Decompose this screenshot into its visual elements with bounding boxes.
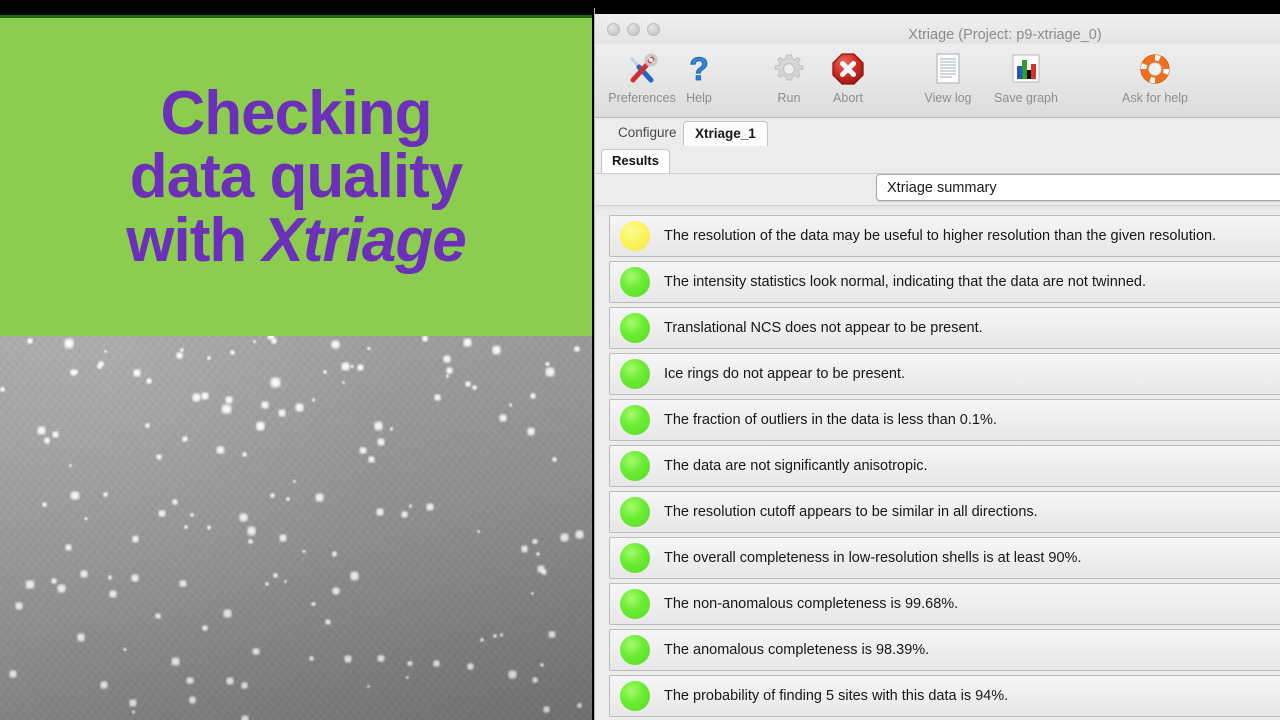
view-log-button[interactable]: View log (911, 48, 985, 116)
diffraction-spot (284, 580, 287, 583)
diffraction-spot (331, 340, 340, 349)
diffraction-spot (521, 545, 529, 553)
tools-icon (625, 48, 659, 90)
diffraction-spot (499, 414, 507, 422)
diffraction-spot (0, 387, 5, 392)
result-text: The intensity statistics look normal, in… (664, 274, 1146, 290)
diffraction-spot (575, 530, 585, 540)
diffraction-spot (560, 533, 569, 542)
diffraction-spot (406, 676, 410, 680)
result-row[interactable]: Ice rings do not appear to be present. (609, 353, 1280, 395)
diffraction-spot (97, 364, 102, 369)
diffraction-spot (323, 370, 327, 374)
diffraction-spot (532, 539, 538, 545)
result-row[interactable]: The overall completeness in low-resoluti… (609, 537, 1280, 579)
diffraction-spot (509, 403, 512, 406)
diffraction-spot (350, 365, 353, 368)
diffraction-spot (536, 552, 540, 556)
diffraction-spot (202, 625, 208, 631)
slide-title-line-3: with Xtriage (126, 209, 465, 272)
bar-chart-icon (1010, 48, 1042, 90)
results-list[interactable]: The resolution of the data may be useful… (595, 212, 1280, 720)
abort-label: Abort (833, 91, 863, 105)
diffraction-spot (548, 631, 555, 638)
diffraction-spot (493, 634, 496, 637)
diffraction-spot (325, 619, 331, 625)
tab-configure[interactable]: Configure (607, 121, 688, 146)
status-indicator-green (620, 267, 650, 297)
diffraction-spot (129, 699, 137, 707)
diffraction-spot (248, 539, 253, 544)
diffraction-spot (156, 454, 163, 461)
diffraction-spot (216, 446, 224, 454)
diffraction-spot (230, 350, 235, 355)
diffraction-spot (201, 392, 209, 400)
diffraction-spot (368, 456, 375, 463)
diffraction-spot (225, 396, 233, 404)
diffraction-spot (407, 661, 412, 666)
diffraction-spot (545, 367, 554, 376)
diffraction-spot (100, 681, 108, 689)
diffraction-spot (109, 590, 117, 598)
diffraction-spot (180, 348, 184, 352)
diffraction-spot (132, 710, 136, 714)
diffraction-spot (223, 609, 232, 618)
diffraction-spot (273, 573, 278, 578)
diffraction-spot (377, 438, 385, 446)
status-indicator-green (620, 497, 650, 527)
diffraction-spot (252, 648, 260, 656)
diffraction-spot (472, 385, 477, 390)
result-row[interactable]: The resolution of the data may be useful… (609, 215, 1280, 257)
save-graph-label: Save graph (994, 91, 1058, 105)
diffraction-spot (9, 670, 17, 678)
status-indicator-green (620, 681, 650, 711)
diffraction-spot (390, 427, 393, 430)
diffraction-spot (543, 706, 550, 713)
preferences-label: Preferences (608, 91, 675, 105)
result-row[interactable]: The anomalous completeness is 98.39%. (609, 629, 1280, 671)
result-text: The anomalous completeness is 98.39%. (664, 642, 929, 658)
question-mark-icon: ? (684, 48, 714, 90)
diffraction-spot (467, 663, 475, 671)
tab-results[interactable]: Results (601, 149, 670, 173)
diffraction-spot (367, 347, 370, 350)
diffraction-spot (207, 356, 211, 360)
diffraction-noise-texture (0, 336, 592, 720)
diffraction-spot (70, 491, 80, 501)
diffraction-spot (182, 436, 188, 442)
diffraction-spot (241, 715, 249, 720)
diffraction-spot (401, 511, 408, 518)
diffraction-spot (44, 437, 51, 444)
diffraction-spot (189, 696, 196, 703)
diffraction-spot (463, 338, 472, 347)
summary-dropdown-value: Xtriage summary (887, 175, 997, 202)
diffraction-spot (131, 574, 139, 582)
diffraction-spot (278, 409, 286, 417)
result-text: Translational NCS does not appear to be … (664, 320, 983, 336)
diffraction-spot (270, 493, 275, 498)
main-toolbar: Preferences ? Help (595, 44, 1280, 118)
summary-dropdown[interactable]: Xtriage summary (876, 174, 1280, 201)
diffraction-spot (480, 638, 484, 642)
diffraction-spot (15, 602, 23, 610)
stop-octagon-icon (831, 48, 865, 90)
help-button[interactable]: ? Help (669, 48, 729, 116)
save-graph-button[interactable]: Save graph (983, 48, 1069, 116)
diffraction-spot (123, 648, 127, 652)
result-row[interactable]: The probability of finding 5 sites with … (609, 675, 1280, 717)
status-indicator-green (620, 359, 650, 389)
status-indicator-green (620, 313, 650, 343)
diffraction-spot (155, 613, 161, 619)
diffraction-spot (309, 656, 314, 661)
diffraction-spot (541, 569, 547, 575)
diffraction-spot (172, 499, 178, 505)
x-ray-diffraction-image (0, 336, 592, 720)
diffraction-spot (315, 493, 324, 502)
diffraction-spot (350, 571, 359, 580)
toolbar-divider (595, 205, 1280, 212)
status-indicator-green (620, 451, 650, 481)
result-text: Ice rings do not appear to be present. (664, 366, 905, 382)
diffraction-spot (311, 602, 315, 606)
diffraction-spot (51, 578, 57, 584)
diffraction-spot (531, 592, 534, 595)
result-text: The non-anomalous completeness is 99.68%… (664, 596, 958, 612)
result-row[interactable]: The resolution cutoff appears to be simi… (609, 491, 1280, 533)
diffraction-spot (545, 362, 549, 366)
diffraction-spot (190, 513, 193, 516)
diffraction-spot (25, 580, 34, 589)
diffraction-spot (37, 426, 46, 435)
diffraction-spot (577, 703, 581, 707)
diffraction-spot (422, 336, 428, 342)
diffraction-spot (133, 369, 141, 377)
diffraction-spot (359, 447, 367, 455)
diffraction-spot (286, 497, 290, 501)
diffraction-spot (270, 377, 281, 388)
diffraction-spot (508, 670, 517, 679)
diffraction-spot (179, 580, 186, 587)
diffraction-spot (132, 535, 140, 543)
run-label: Run (778, 91, 801, 105)
diffraction-spot (527, 427, 536, 436)
result-row[interactable]: The data are not significantly anisotrop… (609, 445, 1280, 487)
diffraction-spot (293, 480, 296, 483)
diffraction-spot (103, 492, 108, 497)
diffraction-spot (207, 525, 212, 530)
diffraction-spot (145, 423, 150, 428)
document-icon (933, 48, 963, 90)
diffraction-spot (433, 660, 440, 667)
diffraction-spot (332, 551, 338, 557)
diffraction-spot (146, 378, 152, 384)
diffraction-spot (42, 502, 47, 507)
result-row[interactable]: Translational NCS does not appear to be … (609, 307, 1280, 349)
diffraction-spot (341, 362, 350, 371)
diffraction-spot (492, 345, 502, 355)
diffraction-spot (332, 587, 340, 595)
diffraction-spot (530, 393, 536, 399)
diffraction-spot (176, 352, 183, 359)
result-row[interactable]: The non-anomalous completeness is 99.68%… (609, 583, 1280, 625)
diffraction-spot (279, 534, 287, 542)
diffraction-spot (265, 582, 269, 586)
diffraction-spot (426, 503, 434, 511)
slide-title-line-3-plain: with (126, 206, 262, 275)
diffraction-spot (574, 346, 580, 352)
diffraction-spot (377, 655, 384, 662)
primary-tab-bar: Configure Xtriage_1 (595, 118, 1280, 146)
diffraction-spot (221, 404, 231, 414)
diffraction-spot (357, 364, 364, 371)
diffraction-spot (376, 508, 384, 516)
diffraction-spot (27, 338, 33, 344)
slide-title-line-2: data quality (130, 145, 463, 208)
diffraction-spot (409, 504, 412, 507)
xtriage-application-window: Xtriage (Project: p9-xtriage_0) (594, 8, 1280, 720)
diffraction-spot (70, 369, 77, 376)
diffraction-spot (57, 584, 66, 593)
diffraction-spot (241, 682, 248, 689)
diffraction-spot (64, 338, 74, 348)
screenshot-root: Checking data quality with Xtriage Xtria… (0, 0, 1280, 720)
abort-button[interactable]: Abort (817, 48, 879, 116)
result-text: The data are not significantly anisotrop… (664, 458, 928, 474)
diffraction-spot (312, 398, 316, 402)
diffraction-spot (500, 633, 504, 637)
diffraction-spot (239, 513, 248, 522)
ask-for-help-button[interactable]: Ask for help (1105, 48, 1205, 116)
diffraction-spot (477, 530, 480, 533)
result-text: The resolution of the data may be useful… (664, 228, 1216, 244)
diffraction-spot (186, 677, 193, 684)
lifesaver-icon (1137, 48, 1173, 90)
status-indicator-green (620, 589, 650, 619)
diffraction-spot (271, 338, 278, 345)
view-log-label: View log (924, 91, 971, 105)
diffraction-spot (171, 657, 180, 666)
tab-xtriage-1[interactable]: Xtriage_1 (683, 121, 768, 146)
diffraction-spot (532, 677, 538, 683)
diffraction-spot (65, 544, 72, 551)
status-indicator-green (620, 543, 650, 573)
diffraction-spot (226, 677, 234, 685)
diffraction-spot (184, 525, 188, 529)
diffraction-spot (261, 401, 269, 409)
slide-title-line-3-italic: Xtriage (263, 206, 466, 275)
diffraction-spot (242, 452, 247, 457)
presentation-slide-panel: Checking data quality with Xtriage (0, 0, 592, 720)
diffraction-spot (52, 431, 59, 438)
letterbox-band-top (0, 0, 592, 15)
run-button[interactable]: Run (759, 48, 819, 116)
gear-icon (772, 48, 806, 90)
diffraction-spot (80, 570, 89, 579)
result-row[interactable]: The fraction of outliers in the data is … (609, 399, 1280, 441)
diffraction-spot (443, 355, 451, 363)
status-indicator-green (620, 635, 650, 665)
slide-title-card: Checking data quality with Xtriage (0, 18, 592, 336)
result-text: The overall completeness in low-resoluti… (664, 550, 1081, 566)
diffraction-spot (374, 421, 384, 431)
diffraction-spot (158, 510, 166, 518)
result-row[interactable]: The intensity statistics look normal, in… (609, 261, 1280, 303)
result-text: The probability of finding 5 sites with … (664, 688, 1008, 704)
diffraction-spot (446, 374, 449, 377)
svg-text:?: ? (689, 52, 709, 86)
status-indicator-yellow (620, 221, 650, 251)
slide-title-line-1: Checking (160, 82, 431, 145)
result-text: The fraction of outliers in the data is … (664, 412, 997, 428)
diffraction-spot (434, 394, 441, 401)
diffraction-spot (302, 550, 305, 553)
diffraction-spot (247, 526, 257, 536)
diffraction-spot (84, 517, 87, 520)
diffraction-spot (465, 381, 471, 387)
ask-for-help-label: Ask for help (1122, 91, 1188, 105)
window-titlebar[interactable]: Xtriage (Project: p9-xtriage_0) (595, 14, 1280, 44)
diffraction-spot (540, 663, 544, 667)
status-indicator-green (620, 405, 650, 435)
diffraction-spot (342, 381, 346, 385)
result-text: The resolution cutoff appears to be simi… (664, 504, 1038, 520)
diffraction-spot (344, 655, 352, 663)
secondary-tab-bar: Results (595, 146, 1280, 174)
diffraction-spot (552, 457, 557, 462)
diffraction-spot (108, 575, 113, 580)
diffraction-spot (77, 633, 86, 642)
diffraction-spot (446, 367, 453, 374)
diffraction-spot (295, 403, 304, 412)
help-label: Help (686, 91, 712, 105)
